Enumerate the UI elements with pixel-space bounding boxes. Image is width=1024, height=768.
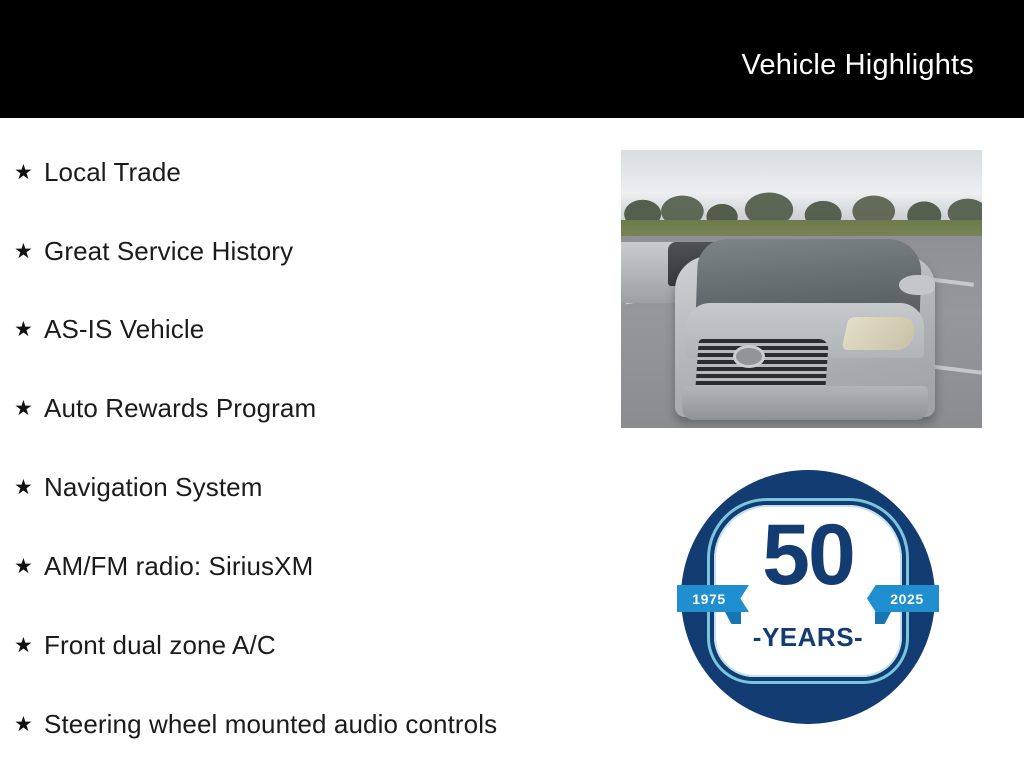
star-bullet-icon: ★ — [14, 477, 44, 498]
highlight-label: AM/FM radio: SiriusXM — [44, 551, 313, 582]
star-bullet-icon: ★ — [14, 635, 44, 656]
star-bullet-icon: ★ — [14, 319, 44, 340]
toyota-emblem-icon — [733, 345, 765, 368]
page-title: Vehicle Highlights — [741, 49, 974, 82]
anniversary-badge: 50 -YEARS- 1975 2025 — [681, 470, 935, 724]
star-bullet-icon: ★ — [14, 556, 44, 577]
list-item: ★ Front dual zone A/C — [14, 628, 276, 662]
highlight-label: Local Trade — [44, 157, 181, 188]
star-bullet-icon: ★ — [14, 714, 44, 735]
vehicle-photo — [621, 150, 982, 428]
header-bar: Vehicle Highlights — [0, 0, 1024, 118]
badge-years-label: -YEARS- — [681, 622, 935, 653]
badge-start-year-ribbon: 1975 — [677, 585, 749, 612]
list-item: ★ Auto Rewards Program — [14, 391, 316, 425]
vehicle-highlights-list: ★ Local Trade ★ Great Service History ★ … — [0, 118, 600, 768]
highlight-label: Front dual zone A/C — [44, 630, 276, 661]
photo-suv-mirror — [899, 275, 935, 294]
badge-end-year-ribbon: 2025 — [867, 585, 939, 612]
photo-suv-headlight — [841, 317, 917, 350]
highlight-label: Great Service History — [44, 236, 293, 267]
list-item: ★ AM/FM radio: SiriusXM — [14, 549, 313, 583]
list-item: ★ AS-IS Vehicle — [14, 312, 204, 346]
photo-suv-grille — [695, 339, 829, 392]
list-item: ★ Great Service History — [14, 234, 293, 268]
list-item: ★ Steering wheel mounted audio controls — [14, 707, 497, 741]
highlight-label: Auto Rewards Program — [44, 393, 316, 424]
star-bullet-icon: ★ — [14, 241, 44, 262]
list-item: ★ Local Trade — [14, 155, 181, 189]
highlight-label: Navigation System — [44, 472, 262, 503]
highlight-label: Steering wheel mounted audio controls — [44, 709, 497, 740]
highlight-label: AS-IS Vehicle — [44, 314, 204, 345]
star-bullet-icon: ★ — [14, 162, 44, 183]
photo-suv-bumper — [682, 386, 927, 419]
list-item: ★ Navigation System — [14, 470, 262, 504]
star-bullet-icon: ★ — [14, 398, 44, 419]
